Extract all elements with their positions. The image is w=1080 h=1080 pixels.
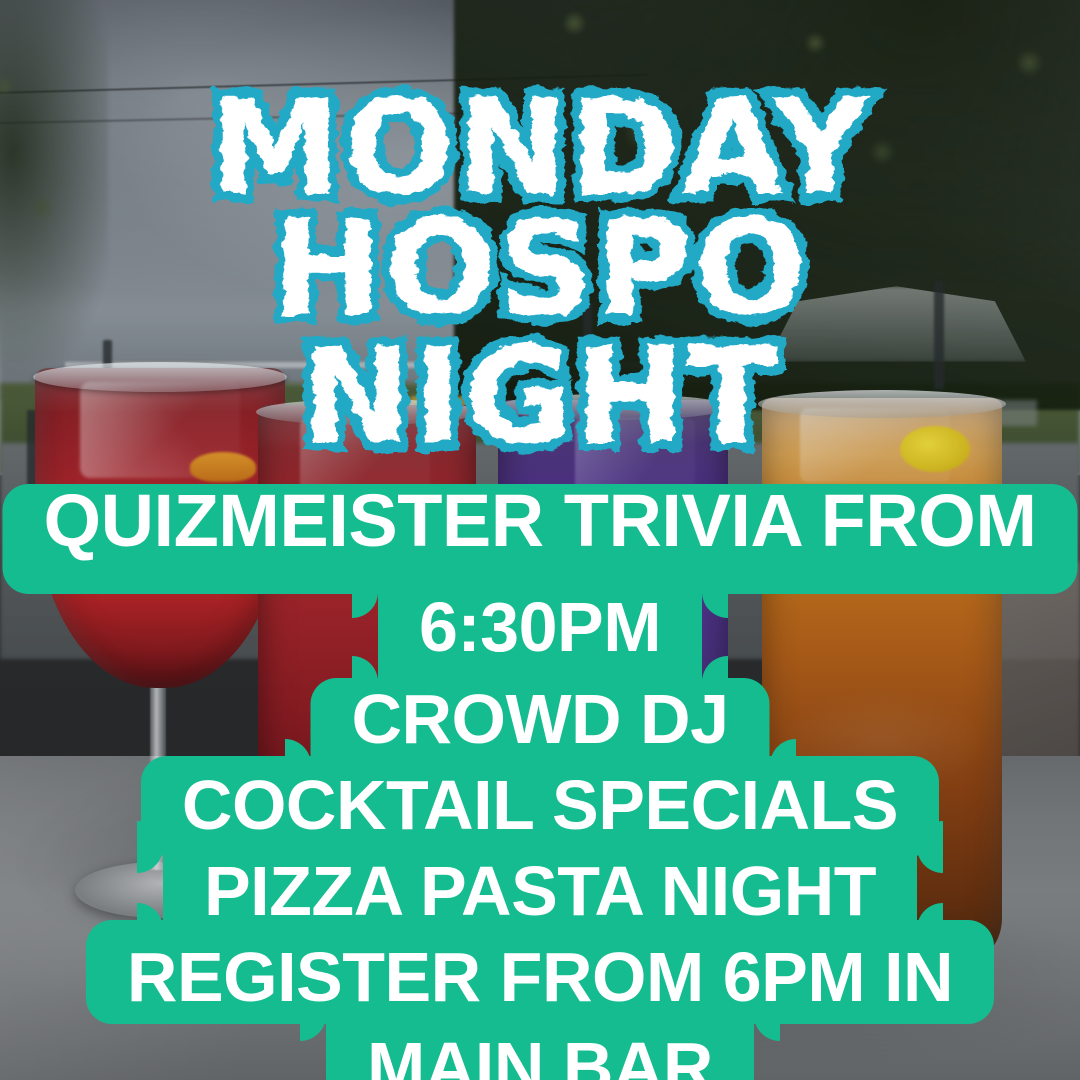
promo-details: QUIZMEISTER TRIVIA FROM 6:30PM CROWD DJ … <box>0 484 1080 1080</box>
promo-line-time: 6:30PM <box>0 592 1080 684</box>
promo-line-trivia: QUIZMEISTER TRIVIA FROM <box>0 484 1080 592</box>
promo-line-cocktails: COCKTAIL SPECIALS <box>0 770 1080 856</box>
promo-line-main-bar: MAIN BAR <box>0 1032 1080 1080</box>
promo-poster: MONDAY HOSPO NIGHT QUIZMEISTER TRIVIA FR… <box>0 0 1080 1080</box>
